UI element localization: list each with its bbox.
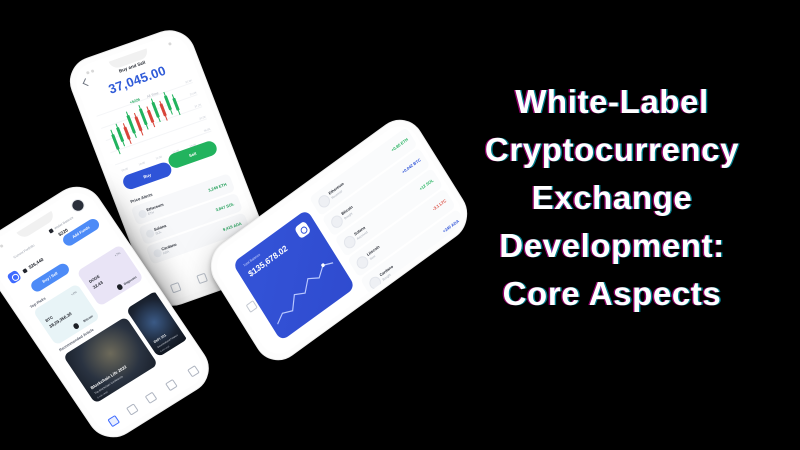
x-tick: 09:00 — [121, 167, 128, 172]
sidebar-item-investment[interactable]: Investment — [161, 377, 192, 410]
alert-value: 3,847 SOL — [215, 201, 235, 212]
alert-value: 3,249 ETH — [207, 181, 227, 192]
tab-label: Crypto — [157, 410, 165, 417]
x-tick: 11:00 — [155, 155, 162, 160]
balance-sparkline — [264, 255, 347, 331]
alert-symbol: ADA — [162, 249, 169, 255]
app-logo-icon — [6, 270, 21, 285]
sidebar-item-account[interactable]: Account — [183, 363, 211, 396]
pick-change: +4% — [70, 290, 78, 297]
alert-symbol: ETH — [147, 210, 154, 216]
pick-name: Dogecoin — [123, 275, 138, 286]
title-line-1: White-Label — [432, 78, 792, 126]
banner-title: White-Label Cryptocurrency Exchange Deve… — [432, 78, 792, 318]
card-logo-icon — [294, 221, 311, 240]
x-tick: 10:00 — [138, 161, 145, 166]
pick-change: +7% — [114, 251, 122, 258]
wallet-icon — [48, 228, 54, 234]
title-line-3: Exchange — [432, 174, 792, 222]
crypto-icon — [144, 392, 157, 404]
portfolio-icon — [22, 268, 28, 274]
tab-label: Stocks — [138, 422, 147, 429]
tab-label: Home — [120, 433, 128, 438]
wallet-screen: Total Balance $135,678.02 Ethereum Recei… — [209, 118, 469, 362]
tab-label: Investment — [175, 396, 188, 405]
bitcoin-icon — [72, 323, 80, 330]
account-icon — [187, 365, 200, 377]
tab-label: Account — [198, 383, 208, 391]
title-line-5: Core Aspects — [432, 270, 792, 318]
alert-name: Ethereum — [145, 201, 164, 212]
dogecoin-icon — [116, 284, 124, 291]
portfolio-label: Current Portfolio — [13, 243, 36, 259]
home-icon — [107, 415, 120, 427]
stocks-icon — [126, 404, 139, 416]
tx-amount: +0.85 ETH — [390, 136, 409, 152]
portfolio-value: $26,440 — [28, 257, 45, 270]
chart-icon[interactable] — [196, 273, 208, 284]
alert-symbol: SOL — [155, 230, 162, 236]
tx-amount: +0.042 BTC — [401, 157, 422, 174]
promo-banner: Buy and Sell 37,045.00 +5226 All Time 37… — [0, 0, 800, 450]
title-line-2: Cryptocurrency — [432, 126, 792, 174]
title-line-4: Development: — [432, 222, 792, 270]
pick-name: Bitcoin — [82, 314, 93, 323]
home-icon[interactable] — [170, 282, 182, 293]
investment-icon — [165, 379, 178, 391]
